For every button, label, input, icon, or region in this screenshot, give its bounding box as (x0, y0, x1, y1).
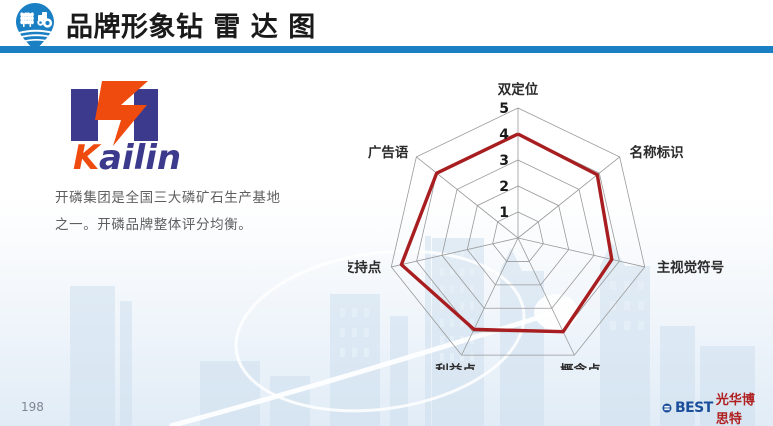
radar-axis-label-3: 概念点 (560, 362, 601, 370)
kailin-wordmark-k: K (73, 138, 102, 173)
radar-spoke-4 (462, 238, 518, 355)
radar-chart: 12345 双定位名称标识主视觉符号概念点利益点支持点广告语 (348, 70, 773, 370)
radar-axis-label-6: 广告语 (368, 144, 409, 161)
page-title: 品牌形象钻 雷 达 图 (66, 5, 316, 44)
header-divider (0, 46, 773, 53)
best-guanghua-bosite-logo: BEST 光华博思特 消 费 大 数 据 中 心 (662, 389, 762, 419)
best-emblem-icon (662, 401, 672, 415)
radar-tick-labels: 12345 (499, 101, 509, 221)
radar-axis-label-1: 名称标识 (630, 144, 684, 161)
slide-root: 品牌形象钻 雷 达 图 K ailin 开磷集团是全国三大磷矿石生产基地之一。开… (0, 0, 773, 426)
radar-tick-2: 2 (499, 179, 509, 195)
radar-tick-3: 3 (499, 153, 509, 169)
radar-axis-label-4: 利益点 (435, 362, 476, 370)
radar-tick-4: 4 (499, 127, 509, 143)
slide-header: 品牌形象钻 雷 达 图 (0, 0, 773, 56)
radar-tick-1: 1 (499, 205, 509, 221)
radar-tick-5: 5 (499, 101, 509, 117)
radar-spoke-6 (416, 157, 518, 238)
radar-axis-label-2: 主视觉符号 (657, 259, 725, 276)
header-divider-gap (0, 53, 773, 56)
page-number: 198 (21, 400, 44, 414)
corp-logo-name-cn: 光华博思特 (716, 389, 762, 426)
radar-spoke-2 (518, 238, 645, 267)
radar-spoke-3 (518, 238, 574, 355)
kailin-logo: K ailin (55, 78, 240, 173)
radar-chart-svg: 12345 双定位名称标识主视觉符号概念点利益点支持点广告语 (348, 70, 773, 370)
corp-logo-mark: BEST (675, 400, 713, 416)
radar-axis-labels: 双定位名称标识主视觉符号概念点利益点支持点广告语 (348, 81, 724, 370)
radar-axis-label-5: 支持点 (348, 259, 382, 276)
radar-axis-label-0: 双定位 (498, 81, 539, 98)
description-text: 开磷集团是全国三大磷矿石生产基地之一。开磷品牌整体评分均衡。 (55, 185, 287, 239)
kailin-wordmark-rest: ailin (99, 138, 181, 173)
left-content-panel: K ailin 开磷集团是全国三大磷矿石生产基地之一。开磷品牌整体评分均衡。 (55, 78, 325, 239)
